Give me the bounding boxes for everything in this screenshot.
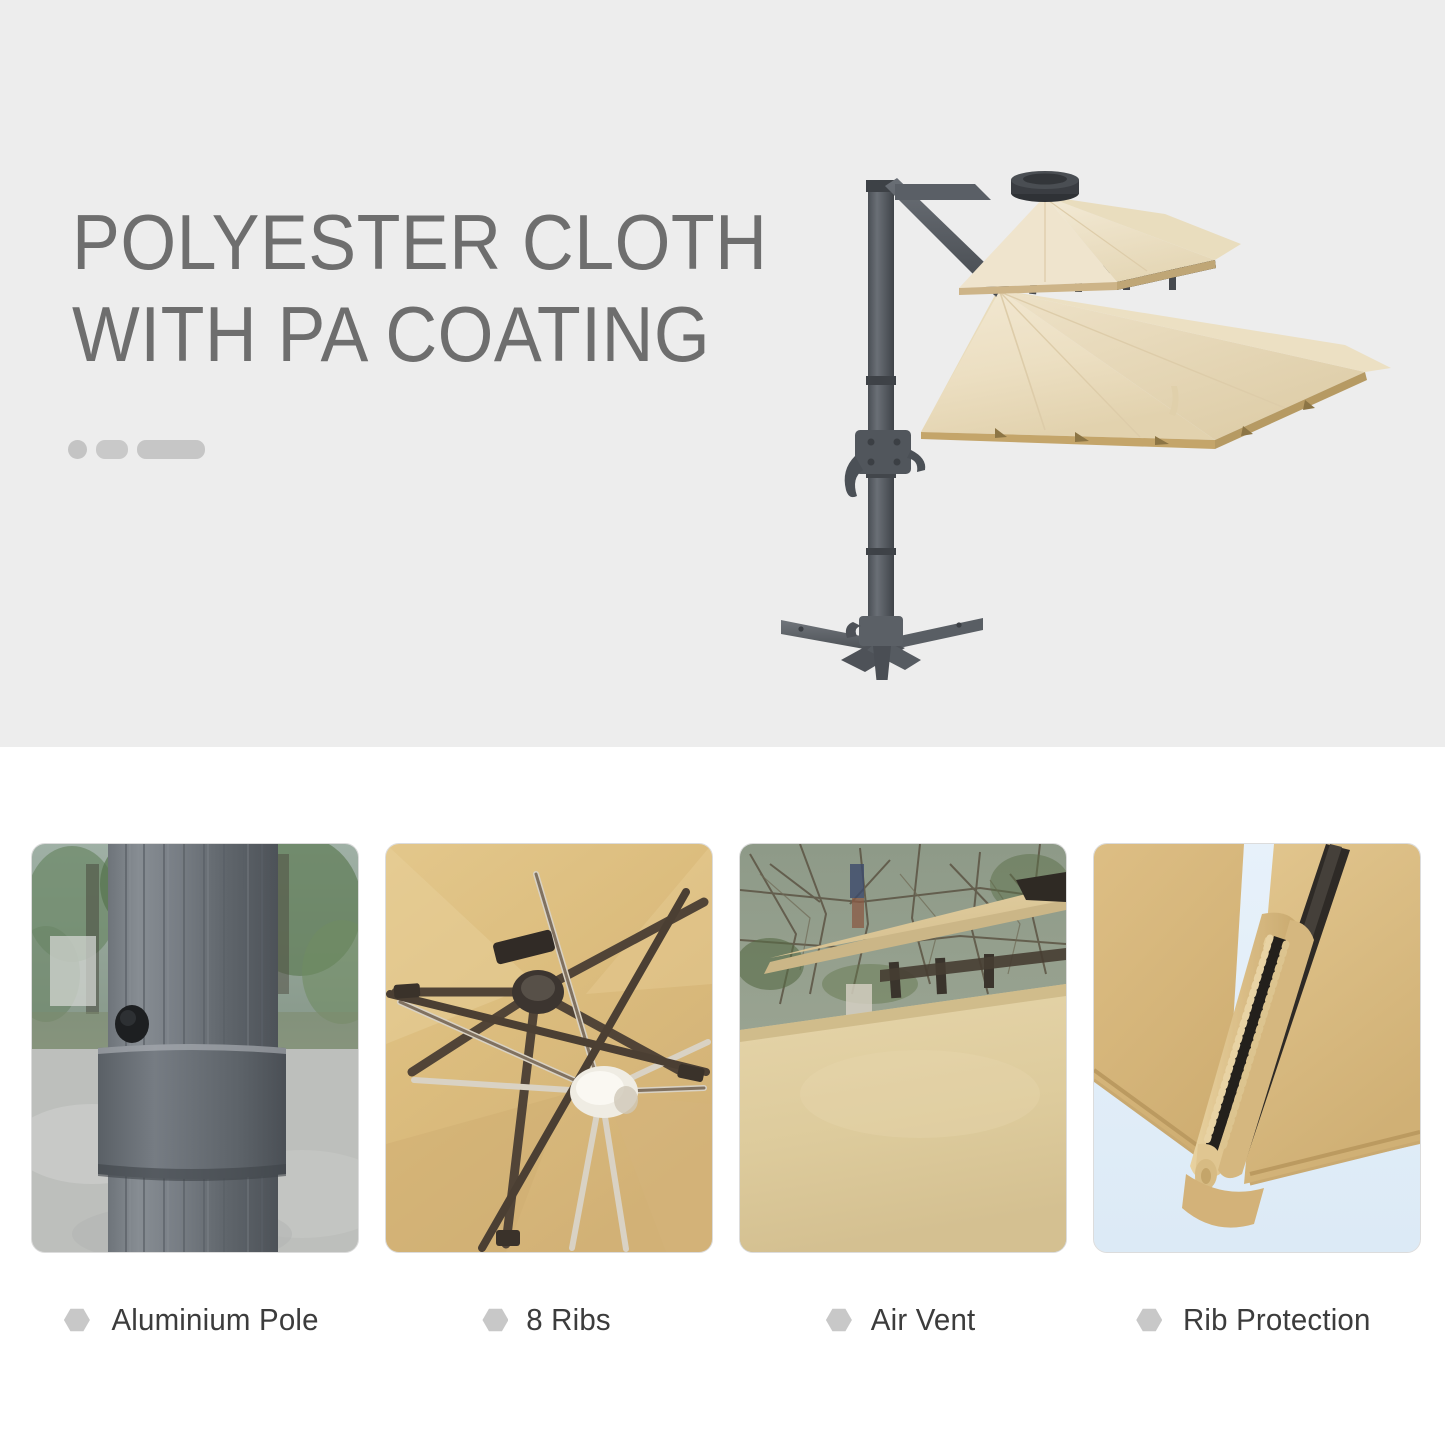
caption-ribs: 8 Ribs <box>371 1288 725 1352</box>
infographic-page: POLYESTER CLOTH WITH PA COATING <box>0 0 1445 1445</box>
caption-label: Rib Protection <box>1183 1302 1371 1338</box>
feature-photo-strip <box>0 843 1445 1253</box>
caption-air-vent: Air Vent <box>725 1288 1079 1352</box>
caption-label: 8 Ribs <box>527 1302 612 1338</box>
feature-photo-rib-protection[interactable] <box>1093 843 1421 1253</box>
feature-photo-aluminium-pole[interactable] <box>31 843 359 1253</box>
hero-section: POLYESTER CLOTH WITH PA COATING <box>0 0 1445 747</box>
hexagon-bullet-icon <box>1136 1308 1162 1332</box>
caption-aluminium-pole: Aluminium Pole <box>17 1288 371 1352</box>
decorative-marker-group <box>68 440 205 459</box>
page-title: POLYESTER CLOTH WITH PA COATING <box>72 196 771 380</box>
pill-marker-small-icon <box>96 440 128 459</box>
hexagon-bullet-icon <box>64 1308 90 1332</box>
hexagon-bullet-icon <box>482 1308 508 1332</box>
caption-label: Air Vent <box>871 1302 976 1338</box>
caption-label: Aluminium Pole <box>111 1302 318 1338</box>
feature-caption-row: Aluminium Pole 8 Ribs Air Vent Rib Prote… <box>0 1288 1445 1352</box>
pill-marker-large-icon <box>137 440 205 459</box>
product-image-cantilever-umbrella <box>745 140 1405 680</box>
hexagon-bullet-icon <box>826 1308 852 1332</box>
caption-rib-protection: Rib Protection <box>1079 1288 1433 1352</box>
dot-marker-icon <box>68 440 87 459</box>
feature-photo-air-vent[interactable] <box>739 843 1067 1253</box>
feature-photo-ribs[interactable] <box>385 843 713 1253</box>
